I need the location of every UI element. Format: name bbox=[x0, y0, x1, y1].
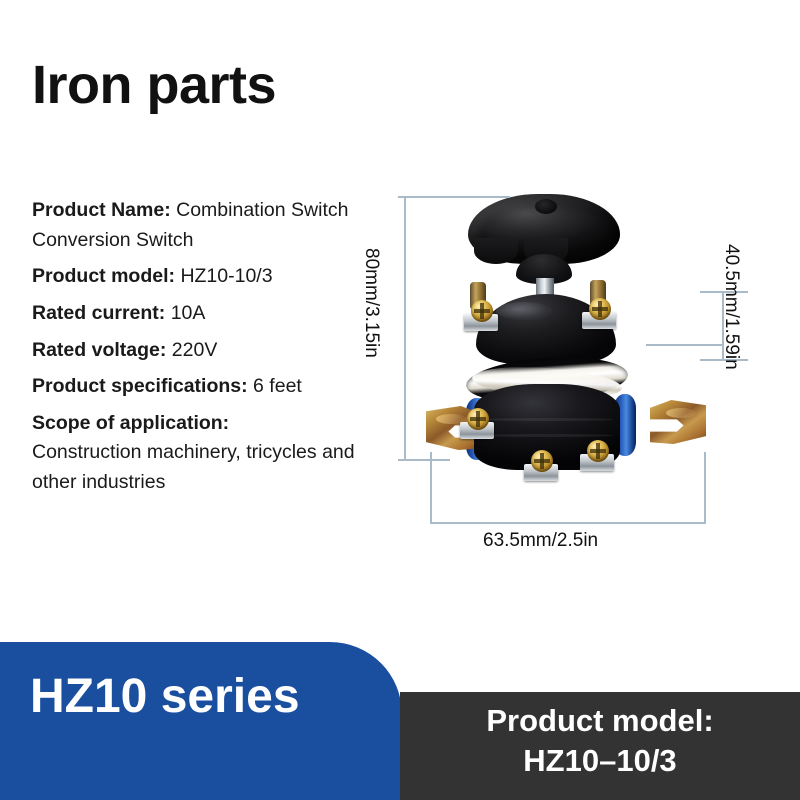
dimension-line-height bbox=[404, 196, 406, 460]
dimension-tick-width-left bbox=[430, 452, 432, 524]
dimension-tick-width-right bbox=[704, 452, 706, 524]
model-banner-caption: Product model: bbox=[400, 701, 800, 741]
body-ridge bbox=[480, 434, 614, 437]
dimension-line-width bbox=[430, 522, 706, 524]
specification-list: Product Name: Combination Switch Convers… bbox=[32, 196, 362, 505]
terminal-screw bbox=[467, 408, 489, 430]
model-banner: Product model: HZ10–10/3 bbox=[400, 692, 800, 800]
terminal-screw bbox=[587, 440, 609, 462]
dimension-label-width: 63.5mm/2.5in bbox=[483, 530, 598, 552]
model-banner-value: HZ10–10/3 bbox=[400, 741, 800, 781]
product-image bbox=[418, 182, 718, 492]
spec-row-product-specifications: Product specifications: 6 feet bbox=[32, 372, 362, 402]
spec-label: Product specifications: bbox=[32, 375, 248, 397]
dimension-tick-height-bottom bbox=[398, 459, 450, 461]
spec-value: Construction machinery, tricycles and ot… bbox=[32, 438, 362, 497]
spec-label: Rated current: bbox=[32, 302, 165, 324]
spec-label: Rated voltage: bbox=[32, 339, 166, 361]
product-spec-card: Iron parts Product Name: Combination Swi… bbox=[0, 0, 800, 800]
spec-value: HZ10-10/3 bbox=[180, 265, 272, 287]
series-banner: HZ10 series bbox=[0, 642, 402, 800]
knob-dimple-icon bbox=[535, 199, 557, 214]
spec-row-rated-current: Rated current: 10A bbox=[32, 299, 362, 329]
dimension-label-knob-height: 40.5mm/1.59in bbox=[720, 244, 742, 370]
spec-label: Product model: bbox=[32, 265, 175, 287]
knob-skirt-left bbox=[474, 238, 518, 264]
dimension-label-height: 80mm/3.15in bbox=[360, 248, 382, 358]
body-highlight bbox=[496, 302, 552, 320]
page-title: Iron parts bbox=[32, 58, 276, 112]
spec-row-product-name: Product Name: Combination Switch Convers… bbox=[32, 196, 362, 255]
spec-value: 220V bbox=[172, 339, 218, 361]
spec-row-product-model: Product model: HZ10-10/3 bbox=[32, 262, 362, 292]
model-banner-text: Product model: HZ10–10/3 bbox=[400, 701, 800, 780]
series-banner-label: HZ10 series bbox=[30, 669, 300, 724]
mounting-bracket-right bbox=[650, 400, 706, 444]
spec-label: Scope of application: bbox=[32, 409, 362, 439]
spec-value: 10A bbox=[171, 302, 206, 324]
spec-row-rated-voltage: Rated voltage: 220V bbox=[32, 336, 362, 366]
dimension-tick-height-top bbox=[398, 196, 510, 198]
spec-row-scope-of-application: Scope of application: Construction machi… bbox=[32, 409, 362, 498]
terminal-screw bbox=[589, 298, 611, 320]
dimension-guide-knob bbox=[646, 344, 724, 346]
spec-label: Product Name: bbox=[32, 199, 171, 221]
body-ridge bbox=[480, 418, 614, 421]
terminal-screw bbox=[531, 450, 553, 472]
terminal-screw bbox=[471, 300, 493, 322]
spec-value: 6 feet bbox=[253, 375, 302, 397]
